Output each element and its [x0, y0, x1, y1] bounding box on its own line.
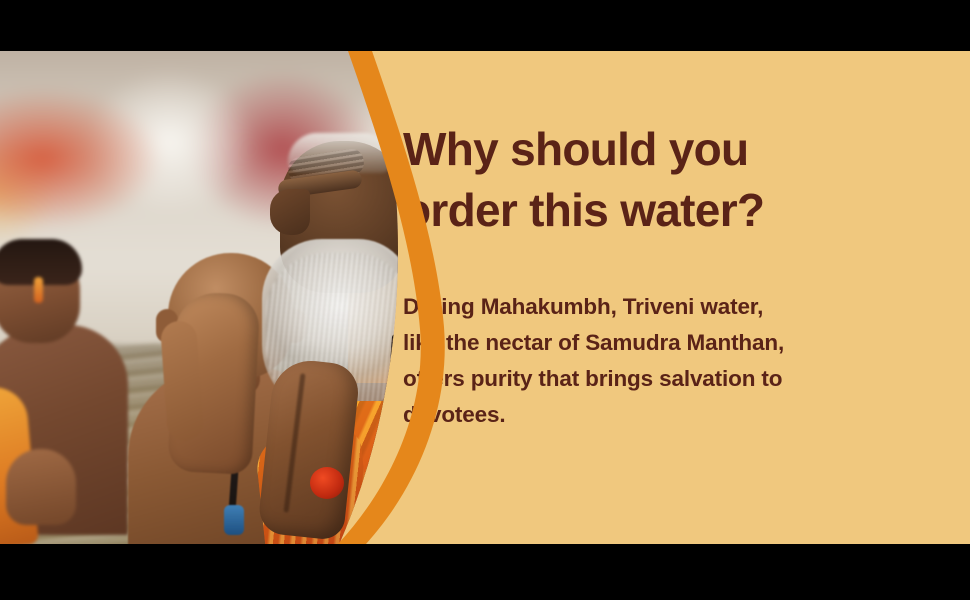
- body-line-3: offers purity that brings salvation to: [403, 361, 883, 397]
- headline-line-1: Why should you: [403, 119, 873, 180]
- text-panel: Why should you order this water? During …: [390, 51, 970, 544]
- headline-line-2: order this water?: [403, 180, 873, 241]
- letterbox-bar-top: [0, 0, 970, 51]
- devotee-bowing: [0, 237, 132, 537]
- banner-content-band: Why should you order this water? During …: [0, 51, 970, 544]
- flower-offering: [310, 467, 344, 499]
- sadhu-nose: [270, 189, 310, 235]
- body-line-4: devotees.: [403, 397, 883, 433]
- devotee-bowing-hands: [6, 449, 76, 525]
- body-line-2: like the nectar of Samudra Manthan,: [403, 325, 883, 361]
- body-line-1: During Mahakumbh, Triveni water,: [403, 289, 883, 325]
- promotional-banner: Why should you order this water? During …: [0, 0, 970, 600]
- letterbox-bar-bottom: [0, 544, 970, 600]
- body-copy: During Mahakumbh, Triveni water, like th…: [403, 289, 883, 433]
- sadhu-hands: [257, 357, 361, 541]
- tilak-mark: [34, 277, 43, 303]
- page-title: Why should you order this water?: [403, 119, 873, 240]
